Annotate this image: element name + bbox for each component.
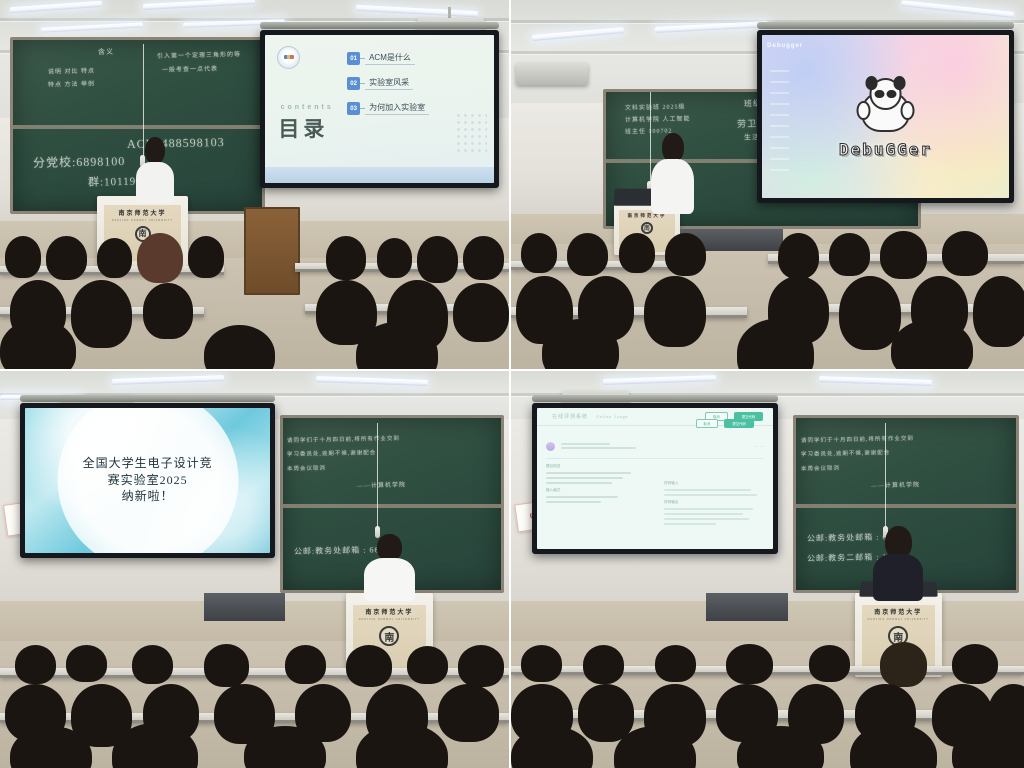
audience-head <box>0 319 76 371</box>
web-page-title: 在线评测系统 Online Judge <box>546 413 628 420</box>
slide-center-content: DebuGGer <box>814 73 957 159</box>
presenter-body <box>873 554 923 601</box>
presenter <box>650 133 696 214</box>
web-title-text: 在线评测系统 <box>552 414 588 420</box>
poster-title: 全国大学生电子设计竞 赛实验室2025 纳新啦！ <box>45 455 250 505</box>
panel-bottom-left: Electronic design contest lab recruitmen… <box>0 371 511 768</box>
slide-title: 目录 <box>278 113 328 143</box>
university-emblem-logo <box>277 46 300 69</box>
projection-screen-frame: contents 目录 01 ACM是什么 02 实验室风采 <box>260 30 499 189</box>
ceiling-light <box>316 376 428 386</box>
presenter-body <box>364 558 416 601</box>
audience-head <box>285 645 326 684</box>
audience-head <box>407 646 448 684</box>
audience-head <box>97 238 133 278</box>
divider <box>546 458 763 459</box>
ceiling-light <box>112 375 224 385</box>
web-subtitle-text: Online Judge <box>596 415 628 419</box>
ceiling-light <box>531 27 623 41</box>
slide-footer-bar <box>265 167 494 183</box>
audience-head <box>46 236 87 280</box>
chalk-text: 学习委员处,逾期不候,谢谢配合 <box>287 448 376 458</box>
projection-screen-frame: 全国大学生电子设计竞 赛实验室2025 纳新啦！ <box>20 403 275 558</box>
chalk-text: 文科实验班 2025级 <box>625 102 686 112</box>
audience-head <box>188 236 224 277</box>
web-section-heading: 题目描述 <box>546 464 640 469</box>
projection-screen: 在线评测系统 Online Judge 取消 提交代码 <box>537 408 773 549</box>
audience-head <box>942 231 988 276</box>
slide-sidebar-lines <box>770 70 790 171</box>
slide-label: contents <box>281 104 334 111</box>
panel-bottom-right: Online judge platform demo 请同学们于十月四日前,将所… <box>511 371 1024 768</box>
presenter-head <box>662 133 684 162</box>
poster-title-line2: 赛实验室2025 <box>45 472 250 489</box>
audience-head <box>655 645 696 682</box>
agenda-label: ACM是什么 <box>365 52 415 65</box>
audience-head <box>644 276 706 347</box>
screen-roller <box>532 395 778 402</box>
teacher-desk <box>204 593 285 621</box>
list-item: 03 为何加入实验室 <box>347 102 480 115</box>
audience-head <box>132 645 173 684</box>
audience-head <box>463 236 504 280</box>
web-text-line <box>561 443 610 445</box>
chalk-text: 一般考查一点代表 <box>162 63 218 73</box>
audience-head <box>619 233 655 273</box>
audience-head <box>880 231 926 279</box>
audience-head <box>583 645 624 684</box>
audience-head <box>204 325 275 371</box>
web-section-right: 样例输入 样例输出 <box>664 481 763 528</box>
presenter <box>870 526 926 601</box>
presenter-body <box>136 162 174 203</box>
audience-head <box>973 276 1024 347</box>
audience-head <box>542 319 619 371</box>
poster-title-line1: 全国大学生电子设计竞 <box>45 455 250 472</box>
hanging-cord <box>885 423 886 534</box>
web-section-left: 题目描述 输入格式 <box>546 464 640 506</box>
projection-screen: contents 目录 01 ACM是什么 02 实验室风采 <box>265 35 494 184</box>
audience-head <box>578 684 634 742</box>
agenda-label: 实验室风采 <box>365 77 413 90</box>
agenda-label: 为何加入实验室 <box>365 102 429 115</box>
audience-head <box>521 233 557 273</box>
presenter <box>361 534 417 601</box>
chalk-text: 请同学们于十月四日前,将所有作业交到 <box>287 434 400 444</box>
chalk-text: 特点 方法 举例 <box>48 79 95 89</box>
podium-university-name: 南京师范大学 <box>365 610 413 616</box>
avatar <box>546 442 555 451</box>
agenda-number: 03 <box>347 102 360 115</box>
audience-head <box>326 236 367 280</box>
slide-online-judge: 在线评测系统 Online Judge 取消 提交代码 <box>537 408 773 549</box>
panel-top-right: ACM lecture - DebuGGer logo slide 文科实验班 … <box>511 0 1024 371</box>
chalk-text: 引入第一个定理三角形的等 <box>157 49 241 60</box>
projection-screen: Debugger <box>762 35 1009 198</box>
slide-wordmark: DebuGGer <box>814 140 957 159</box>
podium-university-subtitle: NANJING NORMAL UNIVERSITY <box>359 618 420 621</box>
chalk-text: 分党校:6898100 <box>33 152 126 171</box>
audience-head <box>15 645 56 684</box>
slide-agenda-list: 01 ACM是什么 02 实验室风采 03 为何加入实验室 <box>347 52 480 127</box>
audience-head <box>880 642 926 687</box>
audience-head <box>66 645 107 682</box>
poster-title-line3: 纳新啦！ <box>45 488 250 505</box>
audience-head <box>829 233 870 276</box>
chalk-text: 学习委员处,逾期不候,谢谢配合 <box>800 448 889 458</box>
audience-head <box>891 319 973 371</box>
audience-row <box>511 214 1024 369</box>
panel-top-left: ACM lecture - contents slide 含义 说明 对比 特点… <box>0 0 511 371</box>
presenter <box>132 137 178 203</box>
podium-university-name: 南京师范大学 <box>119 211 167 217</box>
slide-debugger: Debugger <box>762 35 1009 198</box>
presenter-head <box>377 534 402 561</box>
chalk-text: 请同学们于十月四日前,将所有作业交到 <box>800 434 913 444</box>
web-section-heading: 输入格式 <box>546 488 640 493</box>
web-section-heading: 样例输入 <box>664 481 763 486</box>
audience-head <box>809 645 850 682</box>
web-section-heading: 样例输出 <box>664 500 763 505</box>
screen-roller <box>757 22 1014 29</box>
chalk-text: 说明 对比 特点 <box>48 65 95 75</box>
audience-head <box>204 644 250 687</box>
audience-head <box>438 684 499 742</box>
teacher-desk <box>706 593 788 621</box>
audience-head <box>143 283 194 339</box>
ceiling-light <box>142 0 254 10</box>
presenter-body <box>651 159 693 214</box>
audience-head <box>567 233 608 276</box>
audience-head <box>137 233 183 283</box>
podium-university-subtitle: NANJING NORMAL UNIVERSITY <box>868 618 929 621</box>
web-text-line <box>561 447 636 449</box>
cancel-button-secondary[interactable]: 取消 <box>696 419 719 428</box>
slide-recruitment-poster: 全国大学生电子设计竞 赛实验室2025 纳新啦！ <box>25 408 270 553</box>
projection-screen-frame: Debugger <box>757 30 1014 203</box>
chalk-text: 本周会议取消 <box>287 464 326 473</box>
audience-head <box>458 645 504 687</box>
panda-mascot-icon <box>854 73 917 136</box>
ceiling-light <box>41 22 143 32</box>
web-action-buttons-secondary: 取消 提交代码 <box>696 419 754 428</box>
audience-head <box>665 233 706 276</box>
web-user-row: — · — <box>546 442 763 451</box>
agenda-number: 02 <box>347 77 360 90</box>
audience-row <box>0 637 509 768</box>
hanging-cord <box>377 423 378 534</box>
photo-collage: ACM lecture - contents slide 含义 说明 对比 特点… <box>0 0 1024 768</box>
chalk-text: 本周会议取消 <box>800 464 839 473</box>
audience-head <box>453 283 509 342</box>
ceiling-projector <box>516 63 588 85</box>
audience-row <box>0 221 509 369</box>
audience-head <box>521 645 562 682</box>
audience-head <box>5 236 41 277</box>
chalk-text: 含义 <box>98 47 114 57</box>
ceiling-light <box>655 21 768 33</box>
list-item: 02 实验室风采 <box>347 77 480 90</box>
chalk-text: ——计算机学院 <box>357 479 406 489</box>
audience-head <box>377 238 413 278</box>
slide-brand: Debugger <box>767 43 821 63</box>
audience-head <box>71 280 132 348</box>
audience-head <box>839 276 901 350</box>
ceiling-light <box>10 1 102 13</box>
ceiling-light <box>356 4 478 16</box>
projection-screen-frame: 在线评测系统 Online Judge 取消 提交代码 <box>532 403 778 554</box>
audience-row <box>511 637 1024 768</box>
screen-roller <box>260 22 499 29</box>
list-item: 01 ACM是什么 <box>347 52 480 65</box>
chalk-text: 计算机学院 人工智能 <box>625 114 691 124</box>
audience-head <box>417 236 458 283</box>
ceiling-light <box>603 375 716 385</box>
audience-head <box>346 645 392 687</box>
web-meta-text: — · — <box>754 444 763 448</box>
presenter-head <box>145 137 165 165</box>
submit-code-button-secondary[interactable]: 提交代码 <box>724 419 754 428</box>
audience-head <box>952 644 998 685</box>
ceiling-light <box>819 376 932 386</box>
podium-university-name: 南京师范大学 <box>874 610 922 616</box>
agenda-number: 01 <box>347 52 360 65</box>
ceiling-light <box>901 0 1014 17</box>
slide-brand-text: Debugger <box>767 43 803 49</box>
audience-head <box>726 644 772 685</box>
slide-contents: contents 目录 01 ACM是什么 02 实验室风采 <box>265 35 494 184</box>
screen-roller <box>20 395 275 402</box>
projection-screen: 全国大学生电子设计竞 赛实验室2025 纳新啦！ <box>25 408 270 553</box>
chalk-text: ——计算机学院 <box>871 479 920 489</box>
audience-head <box>778 233 819 279</box>
